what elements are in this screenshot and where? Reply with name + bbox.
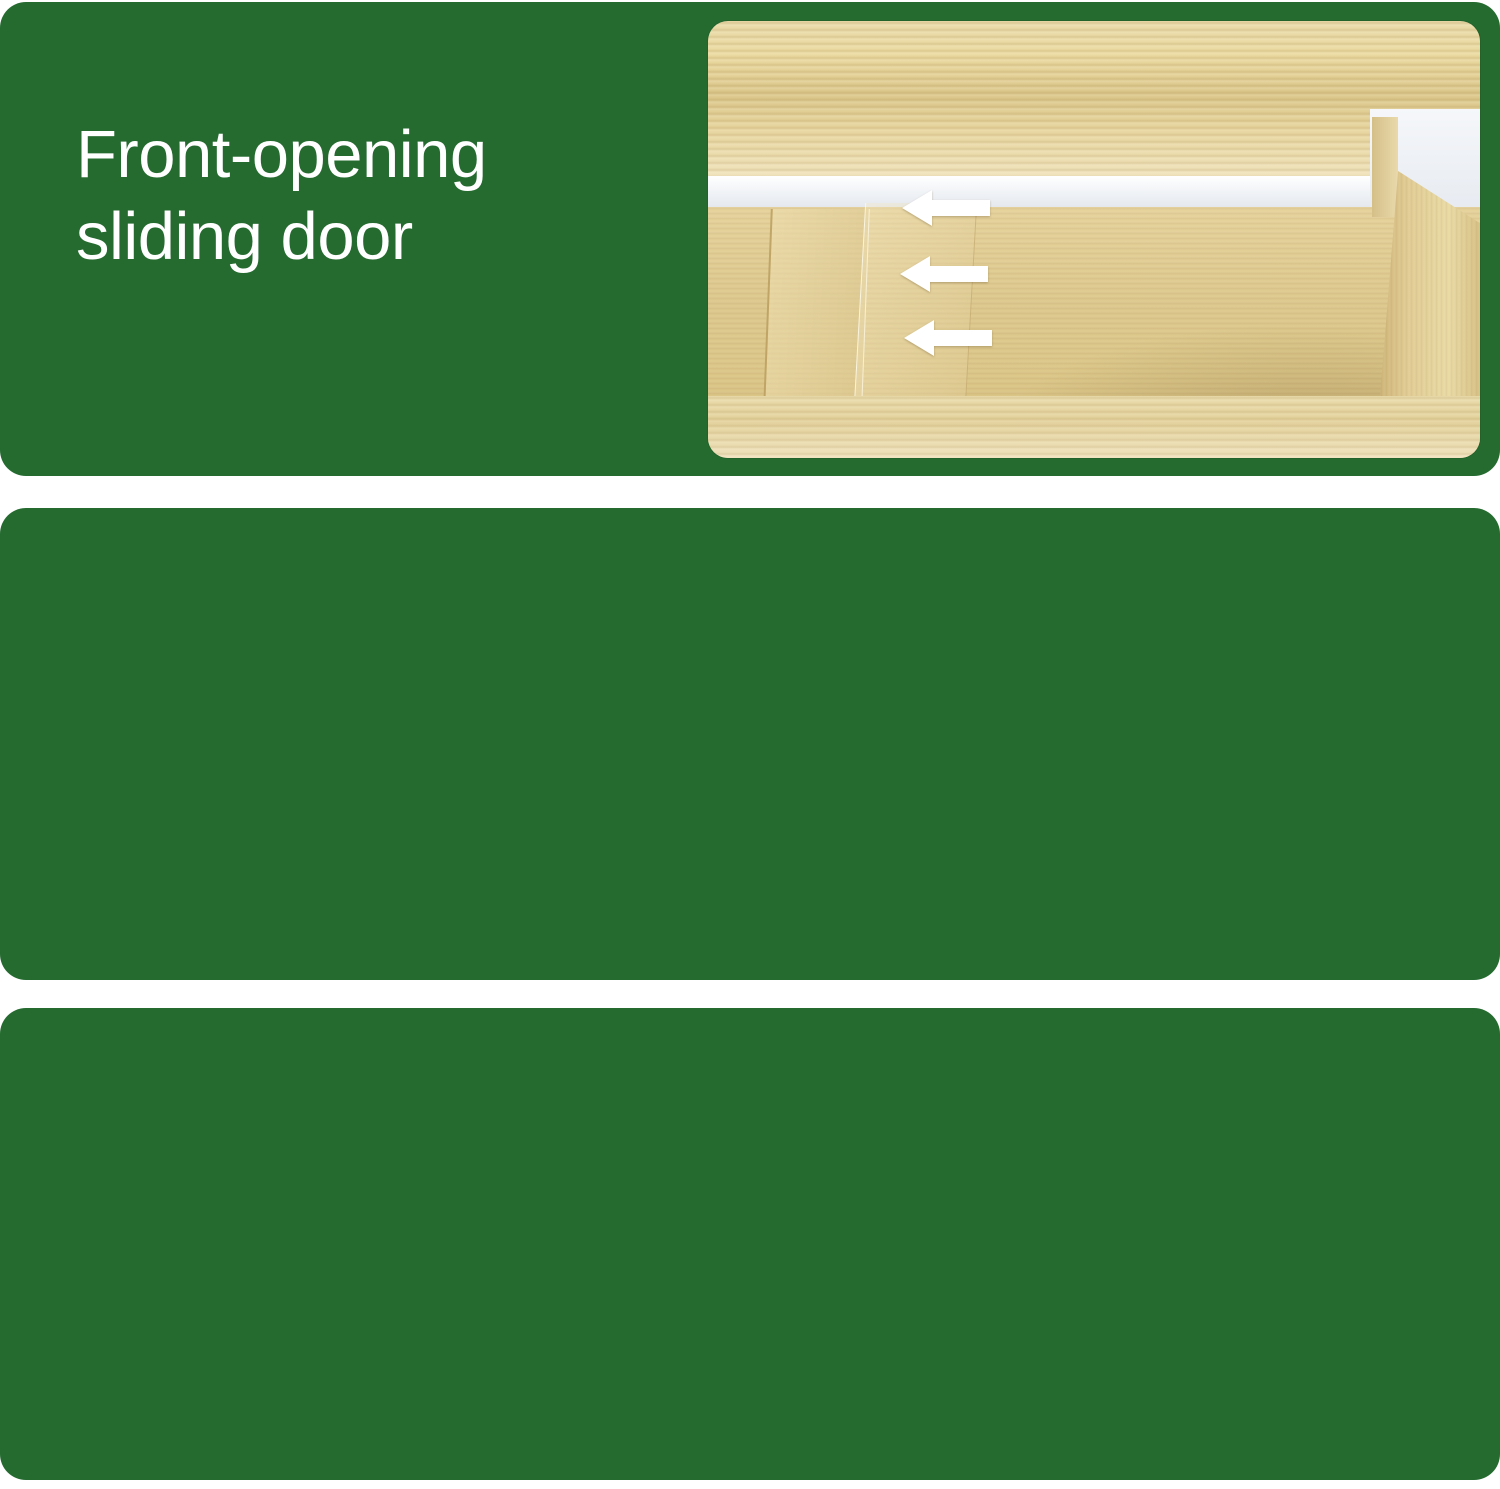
panel-1-caption: Front-opening sliding door bbox=[76, 114, 696, 277]
left-arrow-icon bbox=[902, 188, 990, 228]
infographic-board: Front-opening sliding door bbox=[0, 0, 1500, 1489]
panel-removable-clear-bottom-panel: Removable clear bottom panel, moisture-p… bbox=[0, 508, 1500, 980]
right-corner-post bbox=[1372, 117, 1398, 217]
panel-front-opening-sliding-door: Front-opening sliding door bbox=[0, 2, 1500, 476]
top-shelf-board bbox=[708, 21, 1480, 176]
sliding-door-interior-photo bbox=[708, 21, 1480, 458]
left-arrow-icon bbox=[904, 318, 992, 358]
background-wall-gap bbox=[708, 176, 1480, 211]
panel-thickened-material: Thickened material, stable structure bbox=[0, 1008, 1500, 1480]
photo-1-wood-background bbox=[708, 21, 1480, 458]
left-arrow-icon bbox=[900, 254, 988, 294]
bottom-front-board bbox=[708, 396, 1480, 458]
